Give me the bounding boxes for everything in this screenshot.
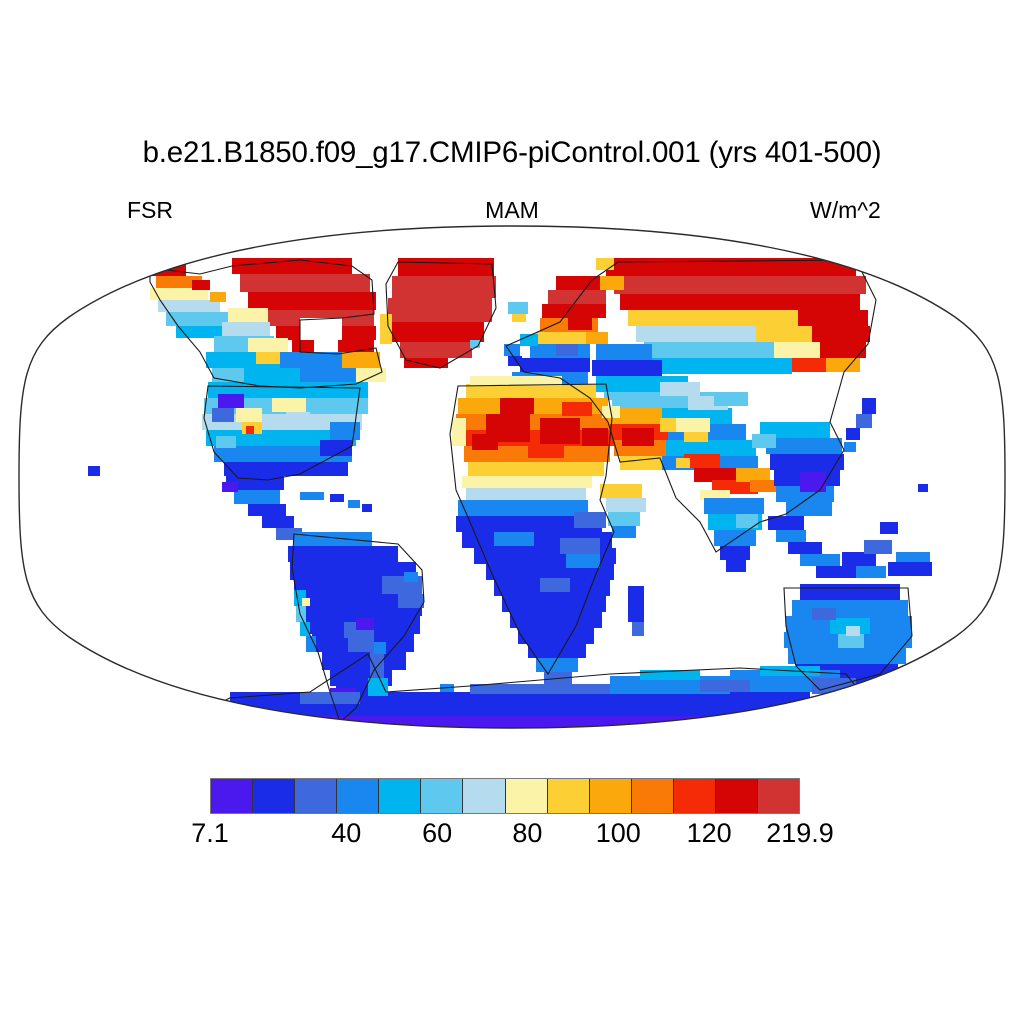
climate-map-figure: b.e21.B1850.f09_g17.CMIP6-piControl.001 … [0,0,1024,1024]
colorbar-tick-labels: 7.1406080100120219.9 [0,818,1024,852]
colorbar[interactable] [210,778,800,814]
colorbar-band-6 [463,779,505,813]
region-india [704,498,764,572]
units-label: W/m^2 [810,197,881,223]
colorbar-tick-219.9: 219.9 [766,818,834,849]
colorbar-tick-100: 100 [596,818,641,849]
colorbar-band-5 [421,779,463,813]
colorbar-band-9 [590,779,632,813]
region-east-asia [752,398,876,516]
colorbar-band-3 [337,779,379,813]
map-plot [0,222,1024,732]
colorbar-band-10 [632,779,674,813]
colorbar-band-12 [716,779,758,813]
colorbar-band-0 [211,779,253,813]
colorbar-tick-60: 60 [422,818,452,849]
colorbar-band-8 [548,779,590,813]
colorbar-tick-80: 80 [512,818,542,849]
map-data-layer [88,258,956,732]
colorbar-bands[interactable] [210,778,800,814]
world-map-svg [0,222,1024,732]
colorbar-band-11 [674,779,716,813]
region-africa [456,484,646,684]
colorbar-band-4 [379,779,421,813]
region-usa [202,382,368,476]
colorbar-tick-120: 120 [687,818,732,849]
region-greenland [380,258,496,368]
colorbar-band-7 [506,779,548,813]
colorbar-band-2 [295,779,337,813]
colorbar-tick-40: 40 [331,818,361,849]
region-southeast-asia [768,516,898,578]
region-caribbean [300,492,372,512]
region-sahara [452,376,614,500]
region-iceland [508,302,528,322]
colorbar-band-13 [758,779,799,813]
region-canada [206,258,386,382]
region-central-america [222,476,302,540]
page-title: b.e21.B1850.f09_g17.CMIP6-piControl.001 … [0,136,1024,170]
colorbar-band-1 [253,779,295,813]
colorbar-tick-7.1: 7.1 [191,818,229,849]
